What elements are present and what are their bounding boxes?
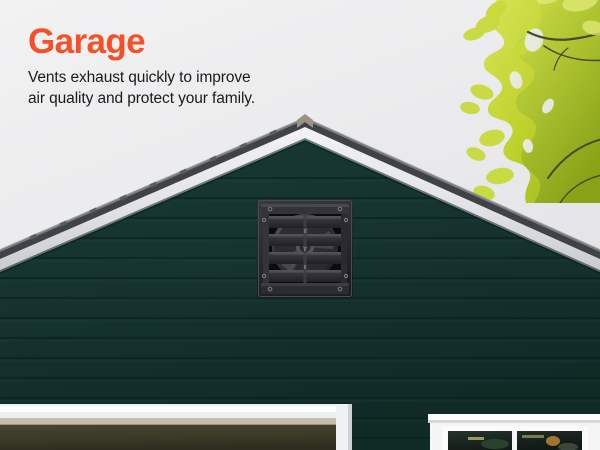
subtitle-line-1: Vents exhaust quickly to improve xyxy=(28,68,333,89)
subtitle-line-2: air quality and protect your family. xyxy=(28,89,333,110)
promo-subtitle: Vents exhaust quickly to improve air qua… xyxy=(28,68,333,109)
promo-image: Garage Vents exhaust quickly to improve … xyxy=(0,0,600,450)
louvered-exhaust-vent xyxy=(257,199,353,298)
promo-copy: Garage Vents exhaust quickly to improve … xyxy=(28,22,368,109)
house-window xyxy=(428,414,600,450)
page-title: Garage xyxy=(28,22,368,62)
garage-door-opening xyxy=(0,404,352,450)
